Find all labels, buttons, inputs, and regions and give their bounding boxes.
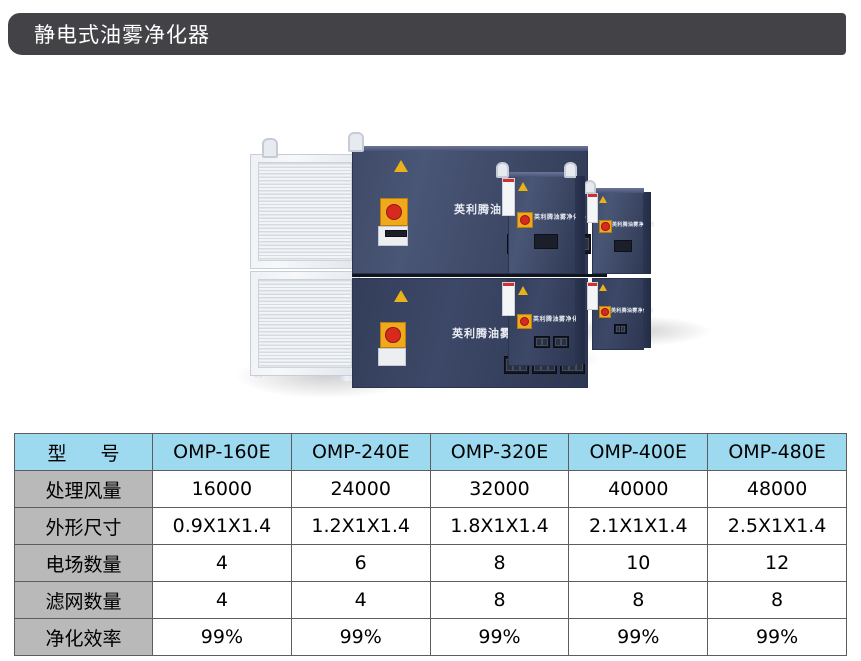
- table-header-model-2: OMP-320E: [430, 434, 569, 471]
- table-row: 滤网数量 4 4 8 8 8: [15, 582, 847, 619]
- cell-airflow-3: 40000: [569, 471, 708, 508]
- emergency-stop-icon: [380, 322, 406, 348]
- instruction-decal: [378, 348, 406, 366]
- warning-triangle-icon: [518, 182, 528, 191]
- row-label-dimensions: 外形尺寸: [15, 508, 153, 545]
- cabinet-side-panel: [644, 278, 651, 348]
- table-row: 净化效率 99% 99% 99% 99% 99%: [15, 619, 847, 656]
- table-header-model-0: OMP-160E: [153, 434, 292, 471]
- cell-dimensions-4: 2.5X1X1.4: [708, 508, 847, 545]
- spec-label-decal: [502, 178, 515, 216]
- cell-filter-count-1: 4: [291, 582, 430, 619]
- purifier-cabinet-medium-top: 英利腾油雾净化器: [508, 172, 576, 274]
- row-label-field-count: 电场数量: [15, 545, 153, 582]
- cell-dimensions-0: 0.9X1X1.4: [153, 508, 292, 545]
- row-label-airflow: 处理风量: [15, 471, 153, 508]
- cabinet-side-panel: [576, 176, 585, 274]
- cell-dimensions-1: 1.2X1X1.4: [291, 508, 430, 545]
- control-gauge: [534, 336, 550, 348]
- cell-field-count-4: 12: [708, 545, 847, 582]
- specification-table-container: 型 号 OMP-160E OMP-240E OMP-320E OMP-400E …: [14, 433, 846, 656]
- decal-red-cap: [588, 194, 597, 197]
- cabinet-top-edge: [352, 146, 588, 151]
- page-title: 静电式油雾净化器: [34, 19, 210, 49]
- warning-triangle-icon: [394, 290, 408, 302]
- cell-filter-count-2: 8: [430, 582, 569, 619]
- cell-airflow-4: 48000: [708, 471, 847, 508]
- cell-airflow-1: 24000: [291, 471, 430, 508]
- cell-airflow-0: 16000: [153, 471, 292, 508]
- table-header-model-label: 型 号: [15, 434, 153, 471]
- warning-triangle-icon: [599, 284, 607, 291]
- spec-label-decal: [502, 282, 515, 316]
- cell-filter-count-3: 8: [569, 582, 708, 619]
- louver-housing-top: [250, 154, 360, 269]
- control-gauge: [553, 336, 569, 348]
- purifier-cabinet-small-top: 英利腾油雾净化器: [592, 188, 644, 274]
- table-header-model-4: OMP-480E: [708, 434, 847, 471]
- emergency-stop-icon: [599, 220, 612, 233]
- cabinet-seam: [352, 274, 607, 277]
- inspection-port: [614, 240, 632, 252]
- louver-grille: [258, 162, 352, 261]
- decal-red-cap: [503, 283, 514, 286]
- table-row: 处理风量 16000 24000 32000 40000 48000: [15, 471, 847, 508]
- cell-efficiency-4: 99%: [708, 619, 847, 656]
- cabinet-top-edge: [592, 188, 644, 193]
- lifting-lug-icon: [348, 132, 364, 152]
- louver-housing-bottom: [250, 271, 360, 376]
- emergency-stop-icon: [517, 314, 532, 329]
- cell-field-count-0: 4: [153, 545, 292, 582]
- louver-grille: [258, 279, 352, 368]
- lifting-lug-icon: [496, 162, 509, 178]
- warning-triangle-icon: [394, 160, 408, 172]
- cell-efficiency-0: 99%: [153, 619, 292, 656]
- cell-efficiency-3: 99%: [569, 619, 708, 656]
- purifier-cabinet-medium-bottom: 英利腾油雾净化器: [508, 278, 576, 366]
- decal-red-cap: [503, 179, 514, 182]
- cell-efficiency-1: 99%: [291, 619, 430, 656]
- cabinet-side-panel: [576, 278, 585, 364]
- table-header-model-1: OMP-240E: [291, 434, 430, 471]
- row-label-filter-count: 滤网数量: [15, 582, 153, 619]
- cell-dimensions-2: 1.8X1X1.4: [430, 508, 569, 545]
- inspection-port: [534, 234, 558, 249]
- decal-red-cap: [588, 283, 597, 286]
- product-photo: 英利腾油雾净化器 英利腾油雾净化器 英: [0, 58, 861, 426]
- cabinet-side-panel: [644, 192, 651, 274]
- lifting-lug-icon: [262, 138, 278, 158]
- table-header-model-3: OMP-400E: [569, 434, 708, 471]
- product-photo-stage: 英利腾油雾净化器 英利腾油雾净化器 英: [0, 58, 861, 426]
- cell-filter-count-4: 8: [708, 582, 847, 619]
- table-header-row: 型 号 OMP-160E OMP-240E OMP-320E OMP-400E …: [15, 434, 847, 471]
- page-title-bar: 静电式油雾净化器: [8, 13, 846, 55]
- warning-triangle-icon: [518, 286, 528, 295]
- cell-field-count-1: 6: [291, 545, 430, 582]
- cell-airflow-2: 32000: [430, 471, 569, 508]
- purifier-cabinet-small-bottom: 英利腾油雾净化器: [592, 278, 644, 350]
- cell-field-count-3: 10: [569, 545, 708, 582]
- cell-dimensions-3: 2.1X1X1.4: [569, 508, 708, 545]
- emergency-stop-icon: [517, 212, 533, 228]
- table-row: 外形尺寸 0.9X1X1.4 1.2X1X1.4 1.8X1X1.4 2.1X1…: [15, 508, 847, 545]
- emergency-stop-icon: [599, 306, 611, 318]
- warning-triangle-icon: [599, 196, 607, 203]
- specification-table: 型 号 OMP-160E OMP-240E OMP-320E OMP-400E …: [14, 433, 847, 656]
- spec-label-decal: [587, 193, 598, 223]
- cell-efficiency-2: 99%: [430, 619, 569, 656]
- cell-field-count-2: 8: [430, 545, 569, 582]
- lifting-lug-icon: [584, 180, 596, 194]
- table-row: 电场数量 4 6 8 10 12: [15, 545, 847, 582]
- cell-filter-count-0: 4: [153, 582, 292, 619]
- emergency-stop-icon: [380, 198, 408, 226]
- decal-black-bar: [385, 230, 407, 237]
- row-label-efficiency: 净化效率: [15, 619, 153, 656]
- control-gauge: [614, 324, 627, 334]
- spec-label-decal: [587, 282, 598, 310]
